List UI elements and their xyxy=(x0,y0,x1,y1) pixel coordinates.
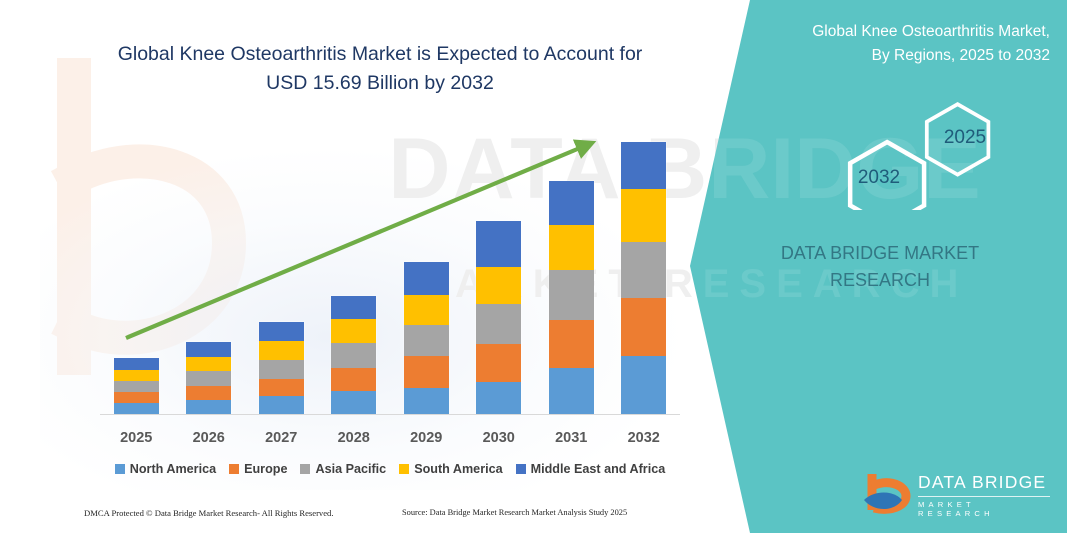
title-line-2: USD 15.69 Billion by 2032 xyxy=(266,72,494,94)
bar-segment xyxy=(114,370,159,381)
bar-segment xyxy=(621,356,666,414)
bar-segment xyxy=(331,368,376,391)
bar-segment xyxy=(549,225,594,270)
stacked-bar xyxy=(549,181,594,414)
bar-column-2027 xyxy=(245,322,317,414)
legend-item: South America xyxy=(399,462,502,476)
x-axis-labels: 20252026202720282029203020312032 xyxy=(100,427,680,449)
stacked-bar xyxy=(259,322,304,414)
stacked-bar xyxy=(404,262,449,414)
bar-segment xyxy=(404,295,449,325)
bar-segment xyxy=(476,382,521,414)
x-axis-tick-2030: 2030 xyxy=(463,430,535,446)
title-line-1: Global Knee Osteoarthritis Market is Exp… xyxy=(118,43,643,65)
stacked-bar xyxy=(476,221,521,414)
x-axis-tick-2028: 2028 xyxy=(318,430,390,446)
bar-segment xyxy=(621,189,666,242)
chart-legend: North AmericaEuropeAsia PacificSouth Ame… xyxy=(100,458,680,480)
bar-column-2028 xyxy=(318,296,390,414)
x-axis-tick-2027: 2027 xyxy=(245,430,317,446)
bar-segment xyxy=(549,270,594,320)
bar-segment xyxy=(476,267,521,304)
bar-segment xyxy=(186,400,231,414)
bar-segment xyxy=(114,358,159,370)
legend-item: Europe xyxy=(229,462,287,476)
brand-logo-name: DATA BRIDGE xyxy=(918,472,1050,493)
bar-segment xyxy=(621,142,666,189)
bar-column-2026 xyxy=(173,342,245,414)
stacked-bar xyxy=(186,342,231,414)
bar-segment xyxy=(186,342,231,357)
x-axis-tick-2026: 2026 xyxy=(173,430,245,446)
brand-logo-sub: MARKET RESEARCH xyxy=(918,496,1050,518)
bar-segment xyxy=(186,371,231,386)
bar-segment xyxy=(476,221,521,267)
branding-panel: DATA BRIDGE MARKET RESEARCH Global Knee … xyxy=(690,0,1067,533)
brand-logo: DATA BRIDGE MARKET RESEARCH xyxy=(860,470,1050,518)
bar-segment xyxy=(114,392,159,403)
bar-segment xyxy=(404,388,449,414)
bar-segment xyxy=(186,357,231,371)
legend-label: South America xyxy=(414,462,502,476)
bar-segment xyxy=(549,368,594,414)
legend-label: Asia Pacific xyxy=(315,462,386,476)
page-title: Global Knee Osteoarthritis Market is Exp… xyxy=(60,40,700,99)
bar-column-2025 xyxy=(100,358,172,414)
databridge-mark-icon xyxy=(860,470,912,516)
panel-brand-text: DATA BRIDGE MARKET RESEARCH xyxy=(710,240,1050,294)
footer-source-text: Source: Data Bridge Market Research Mark… xyxy=(402,508,627,517)
bar-segment xyxy=(549,320,594,368)
stacked-bar xyxy=(621,142,666,414)
bar-segment xyxy=(476,344,521,382)
x-axis-tick-2031: 2031 xyxy=(535,430,607,446)
bar-segment xyxy=(259,396,304,414)
bar-segment xyxy=(404,356,449,388)
bar-segment xyxy=(114,381,159,392)
bar-segment xyxy=(404,325,449,356)
bar-column-2032 xyxy=(608,142,680,414)
panel-brand-line-2: RESEARCH xyxy=(830,270,930,290)
bar-segment xyxy=(186,386,231,400)
footer: DMCA Protected © Data Bridge Market Rese… xyxy=(0,508,760,528)
bar-segment xyxy=(331,391,376,414)
legend-item: North America xyxy=(115,462,216,476)
panel-title: Global Knee Osteoarthritis Market, By Re… xyxy=(732,20,1050,68)
bar-segment xyxy=(259,341,304,360)
bar-segment xyxy=(331,296,376,319)
bar-segment xyxy=(331,319,376,343)
legend-swatch-icon xyxy=(516,464,526,474)
stacked-bar xyxy=(331,296,376,414)
legend-label: Europe xyxy=(244,462,287,476)
footer-dmca-text: DMCA Protected © Data Bridge Market Rese… xyxy=(84,508,334,518)
bar-segment xyxy=(114,403,159,414)
bar-column-2031 xyxy=(535,181,607,414)
plot-area xyxy=(100,120,680,415)
bar-segment xyxy=(259,360,304,379)
legend-swatch-icon xyxy=(300,464,310,474)
x-axis-baseline xyxy=(100,414,680,415)
bar-segment xyxy=(621,242,666,298)
stacked-bar xyxy=(114,358,159,414)
panel-brand-line-1: DATA BRIDGE MARKET xyxy=(781,243,979,263)
bar-segment xyxy=(259,379,304,396)
panel-title-line-1: Global Knee Osteoarthritis Market, xyxy=(812,23,1050,40)
legend-swatch-icon xyxy=(399,464,409,474)
bar-group xyxy=(100,120,680,414)
bar-segment xyxy=(549,181,594,225)
bar-segment xyxy=(259,322,304,341)
chart-panel: DATA BRIDGE MARKET RESEARCH Global Knee … xyxy=(0,0,760,533)
bar-segment xyxy=(476,304,521,344)
hex-badge-group: 2032 2025 xyxy=(810,95,1050,210)
legend-swatch-icon xyxy=(229,464,239,474)
legend-label: Middle East and Africa xyxy=(531,462,666,476)
hex-badge-2032-label: 2032 xyxy=(858,167,900,188)
legend-item: Middle East and Africa xyxy=(516,462,666,476)
bar-segment xyxy=(621,298,666,356)
legend-label: North America xyxy=(130,462,216,476)
x-axis-tick-2032: 2032 xyxy=(608,430,680,446)
bar-column-2030 xyxy=(463,221,535,414)
brand-logo-text: DATA BRIDGE MARKET RESEARCH xyxy=(918,472,1050,518)
x-axis-tick-2025: 2025 xyxy=(100,430,172,446)
bar-segment xyxy=(331,343,376,368)
panel-title-line-2: By Regions, 2025 to 2032 xyxy=(872,47,1050,64)
bar-segment xyxy=(404,262,449,295)
legend-item: Asia Pacific xyxy=(300,462,386,476)
x-axis-tick-2029: 2029 xyxy=(390,430,462,446)
legend-swatch-icon xyxy=(115,464,125,474)
bar-column-2029 xyxy=(390,262,462,414)
hex-badge-2025-label: 2025 xyxy=(944,127,986,148)
